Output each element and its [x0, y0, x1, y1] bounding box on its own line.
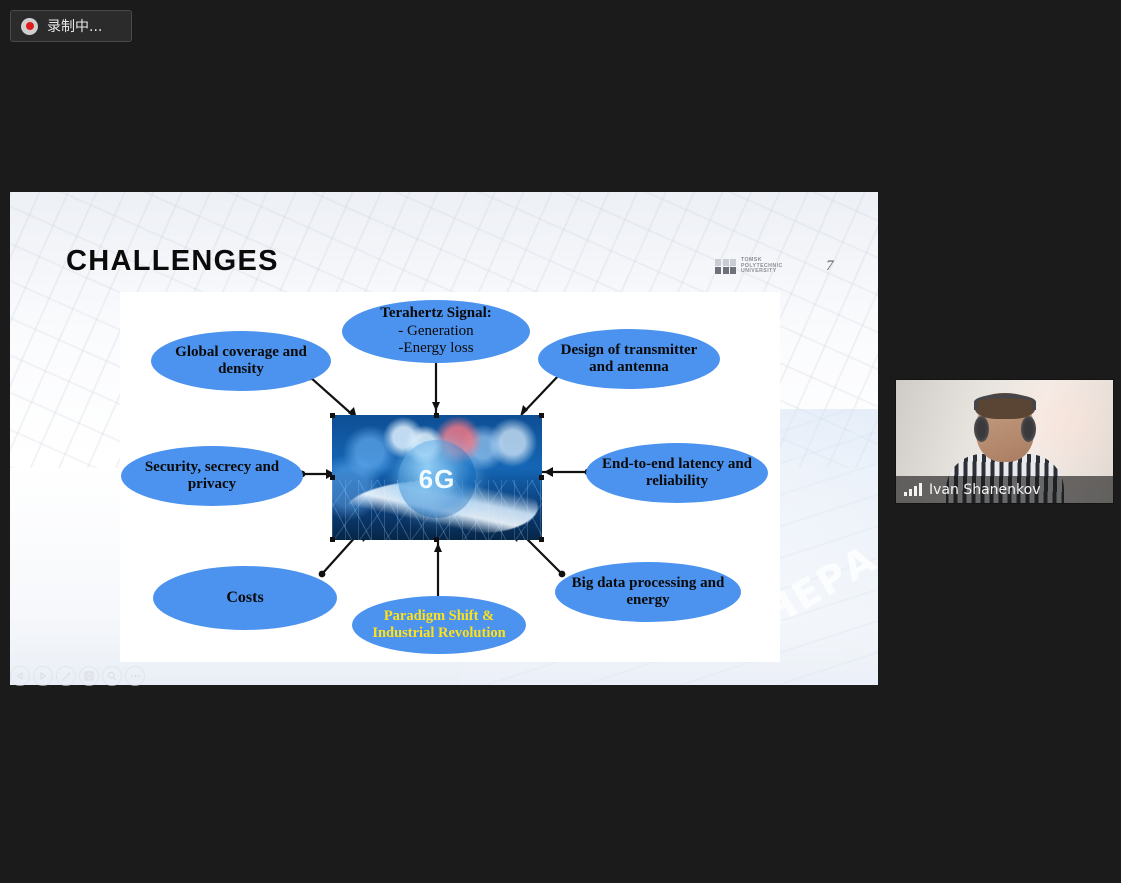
globe-icon: 6G: [398, 440, 476, 518]
center-image-6g[interactable]: 6G: [332, 415, 542, 540]
image-resize-handle[interactable]: [539, 537, 544, 542]
image-resize-handle[interactable]: [539, 475, 544, 480]
node-line: Terahertz Signal:: [380, 305, 492, 322]
node-line: privacy: [145, 476, 279, 493]
image-resize-handle[interactable]: [330, 413, 335, 418]
node-costs[interactable]: Costs: [153, 566, 337, 630]
tomsk-polytechnic-logo: TOMSK POLYTECHNIC UNIVERSITY: [715, 258, 783, 275]
pen-icon[interactable]: [56, 666, 76, 686]
slide-page-number: 7: [826, 258, 834, 275]
node-line: Costs: [226, 589, 263, 608]
node-line: Paradigm Shift &: [372, 608, 505, 625]
image-resize-handle[interactable]: [330, 475, 335, 480]
logo-line-3: UNIVERSITY: [741, 269, 783, 275]
headphone-cup-left-icon: [974, 416, 989, 442]
node-line: Global coverage and: [175, 344, 307, 361]
node-terahertz-signal[interactable]: Terahertz Signal: - Generation -Energy l…: [342, 300, 530, 363]
node-latency-reliability[interactable]: End-to-end latency and reliability: [586, 443, 768, 503]
image-resize-handle[interactable]: [434, 413, 439, 418]
logo-mark-icon: [715, 259, 736, 275]
previous-slide-icon[interactable]: [10, 666, 30, 686]
participant-video-tile[interactable]: Ivan Shanenkov: [895, 379, 1114, 504]
recording-label: 录制中...: [47, 16, 102, 36]
image-caption: 6G: [419, 464, 456, 495]
node-line: energy: [572, 592, 725, 609]
node-global-coverage[interactable]: Global coverage and density: [151, 331, 331, 391]
node-line: Industrial Revolution: [372, 625, 505, 642]
node-security-privacy[interactable]: Security, secrecy and privacy: [121, 446, 303, 506]
node-line: End-to-end latency and: [602, 456, 752, 473]
headphone-band-icon: [974, 394, 1036, 410]
more-options-icon[interactable]: [125, 666, 145, 686]
record-dot-icon: [21, 18, 38, 35]
slide-toolbar[interactable]: [10, 666, 145, 686]
node-line: Security, secrecy and: [145, 459, 279, 476]
node-line: reliability: [602, 473, 752, 490]
audio-bars-icon: [904, 483, 922, 496]
node-line: density: [175, 361, 307, 378]
page-title: CHALLENGES: [66, 245, 279, 278]
node-line: Big data processing and: [572, 575, 725, 592]
node-design-transmitter[interactable]: Design of transmitter and antenna: [538, 329, 720, 389]
participant-name: Ivan Shanenkov: [929, 482, 1040, 498]
save-icon[interactable]: [79, 666, 99, 686]
node-line: and antenna: [561, 359, 698, 376]
participant-head: [976, 396, 1034, 462]
node-line: -Energy loss: [380, 340, 492, 357]
recording-indicator[interactable]: 录制中...: [10, 10, 132, 42]
node-paradigm-shift[interactable]: Paradigm Shift & Industrial Revolution: [352, 596, 526, 654]
image-resize-handle[interactable]: [539, 413, 544, 418]
magnifier-icon[interactable]: [102, 666, 122, 686]
node-big-data[interactable]: Big data processing and energy: [555, 562, 741, 622]
next-slide-icon[interactable]: [33, 666, 53, 686]
participant-name-bar: Ivan Shanenkov: [896, 476, 1113, 503]
node-line: Design of transmitter: [561, 342, 698, 359]
image-resize-handle[interactable]: [434, 537, 439, 542]
headphone-cup-right-icon: [1021, 416, 1036, 442]
node-line: - Generation: [380, 323, 492, 340]
image-resize-handle[interactable]: [330, 537, 335, 542]
